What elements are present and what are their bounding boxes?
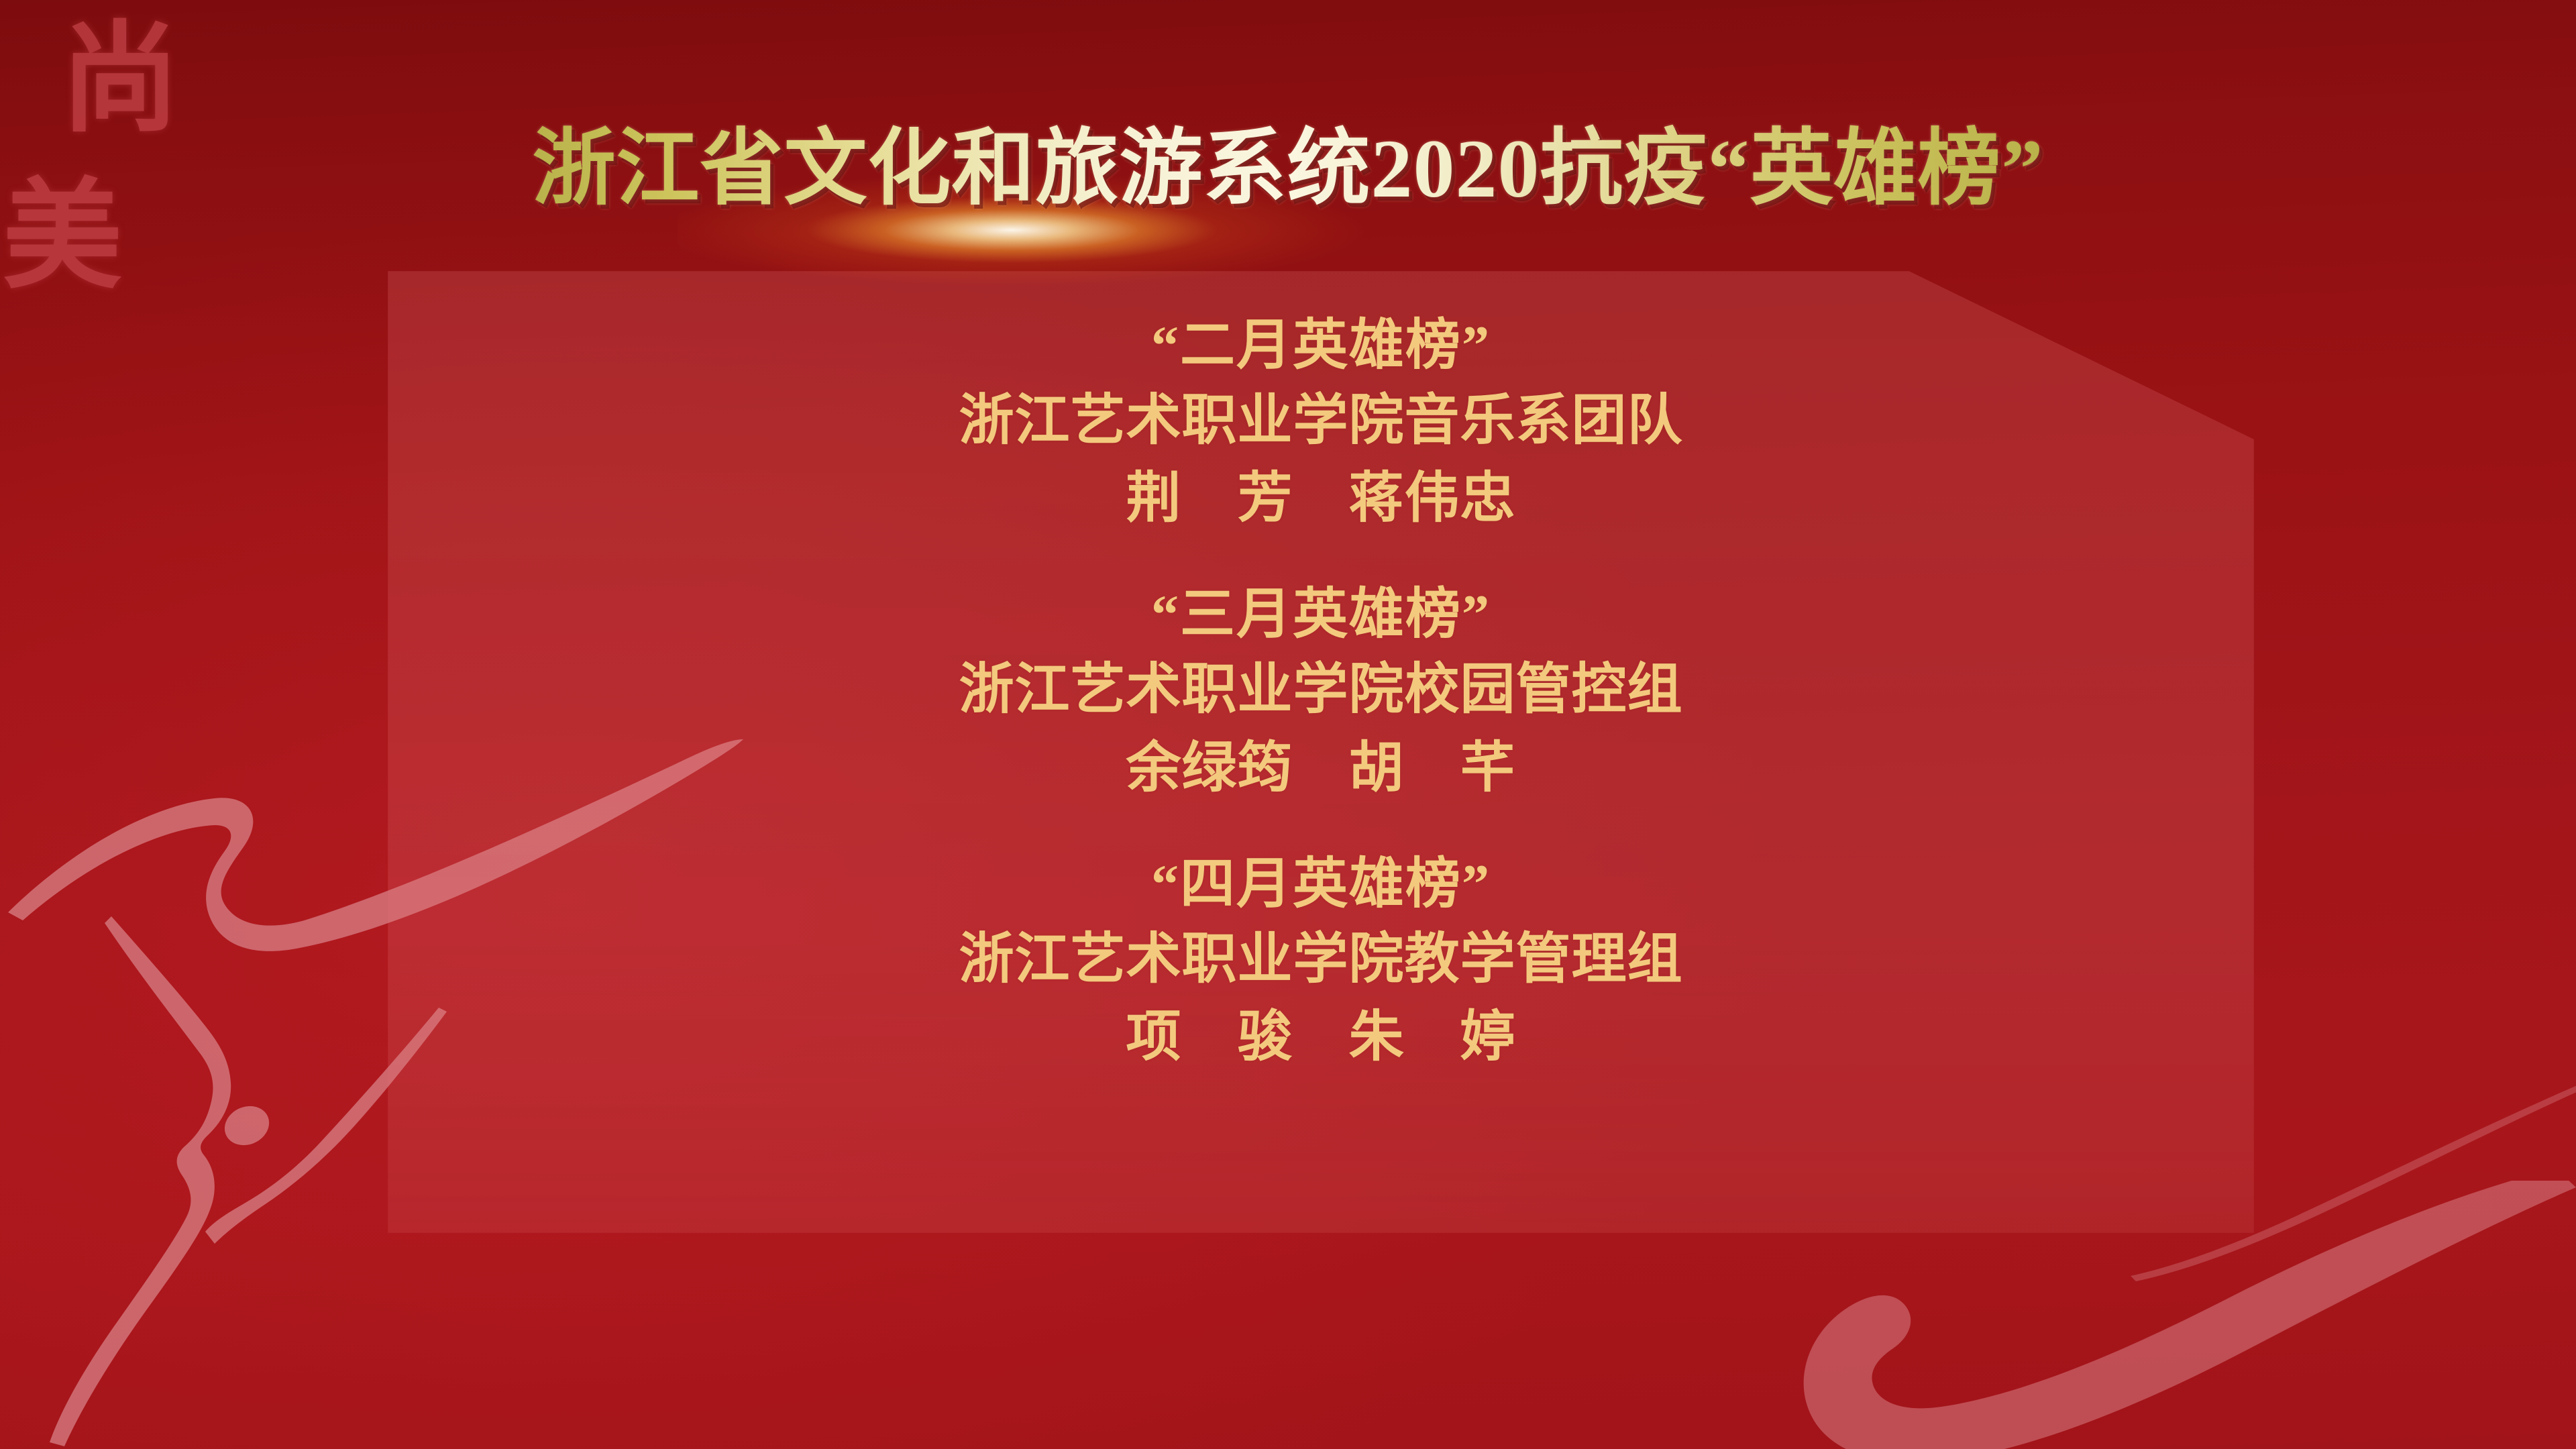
honor-heading: “三月英雄榜” xyxy=(388,579,2254,651)
honor-people: 荆 芳 蒋伟忠 xyxy=(388,460,2254,537)
honor-team: 浙江艺术职业学院教学管理组 xyxy=(388,920,2254,998)
honor-block-february: “二月英雄榜” 浙江艺术职业学院音乐系团队 荆 芳 蒋伟忠 xyxy=(388,310,2254,537)
honor-people: 项 骏 朱 婷 xyxy=(388,998,2254,1076)
page-title: 浙江省文化和旅游系统2020抗疫“英雄榜” xyxy=(532,120,2043,218)
honor-team: 浙江艺术职业学院校园管控组 xyxy=(388,651,2254,729)
slide-canvas: 尚 美 浙江省文化和旅游系统2020抗疫“英雄榜” “二月英雄榜” 浙江艺术职业… xyxy=(0,0,2576,1449)
honor-people: 余绿筠 胡 芊 xyxy=(388,729,2254,807)
honor-block-april: “四月英雄榜” 浙江艺术职业学院教学管理组 项 骏 朱 婷 xyxy=(388,849,2254,1076)
honor-block-march: “三月英雄榜” 浙江艺术职业学院校园管控组 余绿筠 胡 芊 xyxy=(388,579,2254,806)
honor-heading: “二月英雄榜” xyxy=(388,310,2254,382)
honor-team: 浙江艺术职业学院音乐系团队 xyxy=(388,382,2254,460)
honor-roll-list: “二月英雄榜” 浙江艺术职业学院音乐系团队 荆 芳 蒋伟忠 “三月英雄榜” 浙江… xyxy=(388,271,2254,1233)
honor-heading: “四月英雄榜” xyxy=(388,849,2254,920)
title-container: 浙江省文化和旅游系统2020抗疫“英雄榜” xyxy=(0,64,2576,274)
